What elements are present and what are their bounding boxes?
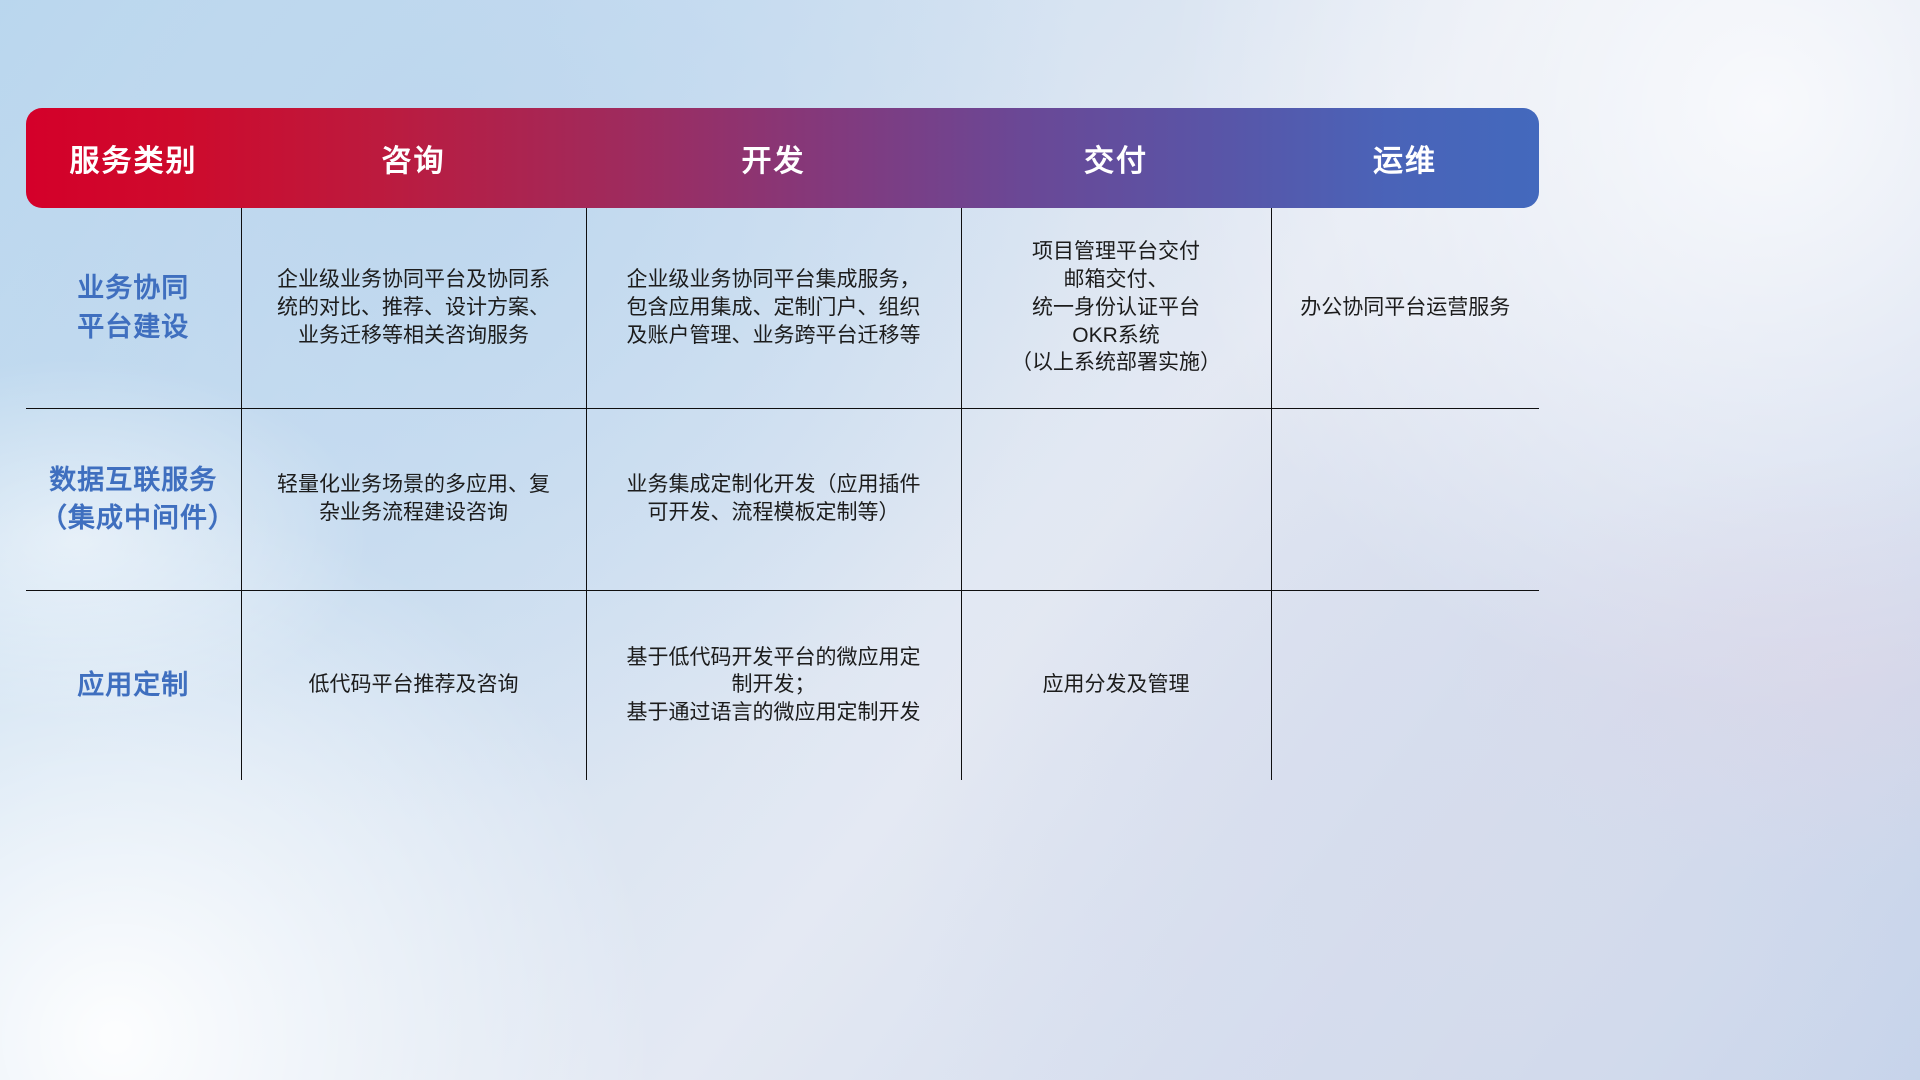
cell-2-consulting: 低代码平台推荐及咨询 xyxy=(241,590,586,780)
table-header: 服务类别 咨询 开发 交付 运维 xyxy=(26,108,1539,208)
cell-1-development: 业务集成定制化开发（应用插件 可开发、流程模板定制等） xyxy=(586,408,961,590)
header-label-3: 交付 xyxy=(961,136,1271,180)
cell-0-development: 企业级业务协同平台集成服务， 包含应用集成、定制门户、组织 及账户管理、业务跨平… xyxy=(586,208,961,408)
header-label-2: 开发 xyxy=(586,136,961,180)
header-cell-service-category: 服务类别 xyxy=(26,108,241,208)
row-label-1: 数据互联服务 （集成中间件） xyxy=(26,408,241,590)
header-row: 服务类别 咨询 开发 交付 运维 xyxy=(26,108,1539,208)
header-label-1: 咨询 xyxy=(241,136,586,180)
cell-2-operations xyxy=(1271,590,1539,780)
header-label-4: 运维 xyxy=(1271,136,1539,180)
row-label-0: 业务协同 平台建设 xyxy=(26,208,241,408)
cell-1-operations xyxy=(1271,408,1539,590)
header-cell-development: 开发 xyxy=(586,108,961,208)
cell-0-consulting: 企业级业务协同平台及协同系 统的对比、推荐、设计方案、 业务迁移等相关咨询服务 xyxy=(241,208,586,408)
cell-0-delivery: 项目管理平台交付 邮箱交付、 统一身份认证平台 OKR系统 （以上系统部署实施） xyxy=(961,208,1271,408)
header-cell-consulting: 咨询 xyxy=(241,108,586,208)
cell-1-consulting: 轻量化业务场景的多应用、复 杂业务流程建设咨询 xyxy=(241,408,586,590)
cell-1-delivery xyxy=(961,408,1271,590)
table-body: 业务协同 平台建设 企业级业务协同平台及协同系 统的对比、推荐、设计方案、 业务… xyxy=(26,208,1539,780)
header-cell-operations: 运维 xyxy=(1271,108,1539,208)
table-row: 应用定制 低代码平台推荐及咨询 基于低代码开发平台的微应用定 制开发； 基于通过… xyxy=(26,590,1539,780)
row-label-2: 应用定制 xyxy=(26,590,241,780)
table-row: 数据互联服务 （集成中间件） 轻量化业务场景的多应用、复 杂业务流程建设咨询 业… xyxy=(26,408,1539,590)
header-label-0: 服务类别 xyxy=(26,136,241,180)
cell-0-operations: 办公协同平台运营服务 xyxy=(1271,208,1539,408)
cell-2-development: 基于低代码开发平台的微应用定 制开发； 基于通过语言的微应用定制开发 xyxy=(586,590,961,780)
table-row: 业务协同 平台建设 企业级业务协同平台及协同系 统的对比、推荐、设计方案、 业务… xyxy=(26,208,1539,408)
service-matrix-table: 服务类别 咨询 开发 交付 运维 业务协同 平台建设 xyxy=(26,108,1539,780)
cell-2-delivery: 应用分发及管理 xyxy=(961,590,1271,780)
matrix-table: 服务类别 咨询 开发 交付 运维 业务协同 平台建设 xyxy=(26,108,1539,780)
header-cell-delivery: 交付 xyxy=(961,108,1271,208)
